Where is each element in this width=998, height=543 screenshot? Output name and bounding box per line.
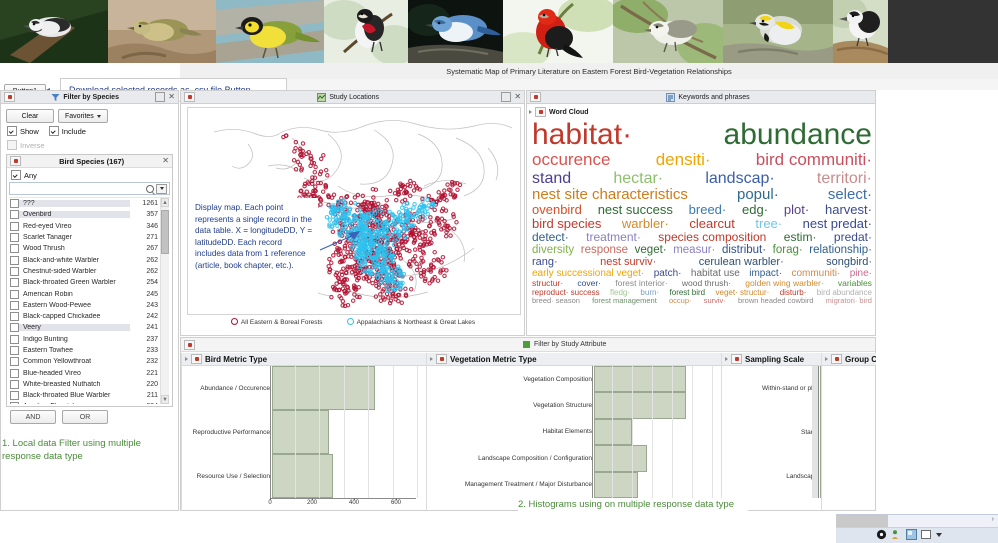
bird-species-header[interactable]: Bird Species (167) ✕ [7, 155, 172, 168]
map-point[interactable] [427, 194, 430, 197]
group-menu-icon[interactable] [10, 156, 21, 166]
word-cloud-term[interactable]: bird communiti· [756, 151, 872, 169]
map-point[interactable] [412, 206, 415, 209]
map-point[interactable] [294, 140, 297, 143]
map-point[interactable] [305, 152, 308, 155]
word-cloud-term[interactable]: plot· [784, 203, 809, 217]
histogram-bar-row[interactable]: Stand [722, 410, 821, 454]
map-point[interactable] [404, 240, 407, 243]
map-point[interactable] [341, 280, 344, 283]
map-point[interactable] [344, 256, 347, 259]
map-point[interactable] [426, 198, 429, 201]
map-point[interactable] [340, 270, 343, 273]
histogram-bar[interactable] [594, 445, 647, 471]
word-cloud-term[interactable]: abundance [724, 119, 872, 151]
map-point[interactable] [400, 301, 403, 304]
word-cloud-term[interactable]: breed· [689, 203, 727, 217]
word-cloud-section-header[interactable]: Word Cloud [529, 106, 589, 118]
word-cloud-term[interactable]: landscap· [705, 170, 774, 187]
map-point[interactable] [440, 209, 443, 212]
map-point[interactable] [424, 230, 427, 233]
map-point[interactable] [354, 202, 357, 205]
map-point[interactable] [332, 254, 335, 257]
map-point[interactable] [320, 157, 323, 160]
histogram-bar-row[interactable]: Landscape Composition / Configuration [427, 445, 721, 471]
species-checkbox[interactable] [10, 301, 19, 310]
species-list-item[interactable]: Chestnut-sided Warbler262 [9, 266, 170, 277]
word-cloud-term[interactable]: bird species [532, 217, 601, 231]
map-point[interactable] [349, 201, 352, 204]
map-point[interactable] [346, 285, 349, 288]
map-point[interactable] [443, 274, 446, 277]
word-cloud-term[interactable]: rang· [532, 257, 558, 269]
map-point[interactable] [313, 171, 316, 174]
species-list-item[interactable]: Indigo Bunting237 [9, 334, 170, 345]
word-cloud-term[interactable]: warbler· [622, 217, 669, 231]
map-point[interactable] [330, 261, 333, 264]
word-cloud[interactable]: habitat·abundanceoccurencedensiti·bird c… [529, 119, 875, 335]
map-point[interactable] [412, 182, 415, 185]
map-point[interactable] [369, 215, 372, 218]
map-point[interactable] [372, 196, 375, 199]
maximize-icon[interactable] [155, 92, 165, 102]
map-panel-titlebar[interactable]: Study Locations ✕ [181, 91, 524, 104]
map-point[interactable] [358, 295, 361, 298]
map-point[interactable] [456, 182, 459, 185]
histogram-bar[interactable] [272, 410, 329, 454]
histogram-bar-row[interactable]: Reproductive Performance [182, 410, 426, 454]
map-point[interactable] [456, 188, 459, 191]
map-point[interactable] [314, 185, 317, 188]
map-point[interactable] [385, 225, 388, 228]
map-point[interactable] [412, 189, 415, 192]
word-cloud-term[interactable]: nest surviv· [600, 257, 656, 269]
word-cloud-term[interactable]: select· [828, 187, 872, 203]
word-cloud-term[interactable]: surviv· [704, 297, 726, 305]
map-point[interactable] [395, 198, 398, 201]
map-point[interactable] [336, 224, 339, 227]
species-list-item[interactable]: Black-throated Blue Warbler211 [9, 390, 170, 401]
map-point[interactable] [322, 190, 325, 193]
word-cloud-term[interactable]: detect· [532, 231, 569, 244]
word-cloud-term[interactable]: habitat· [532, 119, 632, 151]
blank-window-icon[interactable] [921, 529, 932, 540]
word-cloud-term[interactable]: diversity [532, 244, 574, 256]
map-point[interactable] [301, 142, 304, 145]
species-list-item[interactable]: Ovenbird357 [9, 209, 170, 220]
histogram-bar-row[interactable]: Within-stand or plot [722, 366, 821, 410]
map-point[interactable] [319, 170, 322, 173]
clear-button[interactable]: Clear [6, 109, 54, 123]
histogram-plot[interactable]: Within-stand or plotStandLandscape [722, 366, 821, 511]
map-point[interactable] [437, 191, 440, 194]
map-point[interactable] [354, 272, 357, 275]
map-point[interactable] [296, 160, 299, 163]
map-point[interactable] [357, 286, 360, 289]
histogram-title-bar[interactable]: Bird Metric Type [182, 353, 426, 366]
species-checkbox[interactable] [10, 267, 19, 276]
map-point[interactable] [446, 183, 449, 186]
filter-panel-titlebar[interactable]: Filter by Species ✕ [1, 91, 178, 104]
panel-menu-icon[interactable] [4, 92, 15, 102]
map-maximize-icon[interactable] [501, 92, 511, 102]
species-list-item[interactable]: Black-capped Chickadee242 [9, 311, 170, 322]
species-checkbox[interactable] [10, 335, 19, 344]
word-cloud-term[interactable]: estim· [784, 231, 817, 244]
map-point[interactable] [406, 183, 409, 186]
word-cloud-term[interactable]: predat· [834, 231, 872, 244]
map-point[interactable] [405, 248, 408, 251]
word-cloud-term[interactable]: forag· [773, 244, 803, 256]
disclosure-icon[interactable] [725, 357, 728, 361]
map-point[interactable] [338, 295, 341, 298]
species-list-item[interactable]: Scarlet Tanager271 [9, 232, 170, 243]
map-point[interactable] [311, 182, 314, 185]
legend-item-all-eastern[interactable]: All Eastern & Boreal Forests [231, 318, 323, 326]
word-cloud-term[interactable]: tree· [755, 217, 782, 231]
map-point[interactable] [385, 199, 388, 202]
scroll-up-arrow[interactable]: ▲ [161, 198, 169, 207]
map-point[interactable] [443, 189, 446, 192]
map-point[interactable] [360, 211, 363, 214]
map-point[interactable] [314, 165, 317, 168]
map-point[interactable] [367, 280, 370, 283]
species-checkbox[interactable] [10, 278, 19, 287]
species-checkbox[interactable] [10, 290, 19, 299]
species-list-scroll-thumb[interactable] [161, 210, 169, 254]
map-point[interactable] [445, 235, 448, 238]
map-point[interactable] [432, 259, 435, 262]
map-point[interactable] [449, 193, 452, 196]
word-cloud-term[interactable]: species composition [658, 231, 766, 244]
map-point[interactable] [332, 193, 335, 196]
map-point[interactable] [294, 168, 297, 171]
map-point[interactable] [425, 243, 428, 246]
word-cloud-term[interactable]: veget· [635, 244, 667, 256]
species-list-item[interactable]: Veery241 [9, 322, 170, 333]
map-point[interactable] [294, 147, 297, 150]
or-button[interactable]: OR [62, 410, 108, 424]
map-point[interactable] [345, 195, 348, 198]
word-cloud-term[interactable]: forest management [592, 297, 657, 305]
word-cloud-term[interactable]: nest success [598, 203, 673, 217]
map-point[interactable] [436, 279, 439, 282]
histogram-bar[interactable] [594, 419, 632, 445]
map-point[interactable] [393, 239, 396, 242]
show-checkbox[interactable]: Show [7, 126, 39, 136]
map-point[interactable] [394, 251, 397, 254]
map-point[interactable] [428, 224, 431, 227]
any-checkbox[interactable]: Any [11, 170, 37, 180]
map-point[interactable] [403, 198, 406, 201]
map-point[interactable] [328, 270, 331, 273]
map-point[interactable] [429, 237, 432, 240]
map-point[interactable] [397, 293, 400, 296]
map-point[interactable] [358, 207, 361, 210]
map-point[interactable] [350, 222, 353, 225]
map-point[interactable] [337, 288, 340, 291]
map-point[interactable] [426, 212, 429, 215]
species-checkbox[interactable] [10, 244, 19, 253]
map-point[interactable] [418, 265, 421, 268]
map-point[interactable] [330, 295, 333, 298]
species-list-item[interactable]: American Robin245 [9, 288, 170, 299]
disclosure-icon[interactable] [185, 357, 188, 361]
map-point[interactable] [353, 293, 356, 296]
histogram-menu-icon[interactable] [191, 354, 202, 364]
map-point[interactable] [341, 287, 344, 290]
species-checkbox[interactable] [10, 210, 19, 219]
scroll-right-icon[interactable]: › [992, 516, 994, 523]
map-point[interactable] [377, 202, 380, 205]
histogram-bar-row[interactable]: Management Treatment / Major Disturbance [427, 472, 721, 498]
species-list-item[interactable]: Eastern Wood-Pewee243 [9, 300, 170, 311]
map-point[interactable] [401, 244, 404, 247]
word-cloud-term[interactable]: measur· [673, 244, 715, 256]
histogram-menu-icon[interactable] [436, 354, 447, 364]
species-checkbox[interactable] [10, 346, 19, 355]
map-point[interactable] [292, 159, 295, 162]
map-point[interactable] [376, 263, 379, 266]
map-point[interactable] [328, 257, 331, 260]
record-icon[interactable] [876, 529, 887, 540]
map-point[interactable] [413, 203, 416, 206]
map-point[interactable] [426, 207, 429, 210]
map-point[interactable] [392, 259, 395, 262]
map-point[interactable] [404, 287, 407, 290]
species-checkbox[interactable] [10, 199, 19, 208]
word-cloud-term[interactable]: treatment· [586, 231, 641, 244]
histogram-bar-row[interactable]: Landscape [722, 454, 821, 498]
species-list[interactable]: ▲ ▼ ???1261Ovenbird357Red-eyed Vireo346S… [9, 197, 170, 404]
map-point[interactable] [374, 188, 377, 191]
map-point[interactable] [377, 286, 380, 289]
map-point[interactable] [433, 275, 436, 278]
map-point[interactable] [429, 216, 432, 219]
histogram-bar[interactable] [272, 454, 333, 498]
map-point[interactable] [414, 255, 417, 258]
map-point[interactable] [417, 209, 420, 212]
species-checkbox[interactable] [10, 391, 19, 400]
map-point[interactable] [415, 268, 418, 271]
word-cloud-term[interactable]: response [581, 244, 628, 256]
map-point[interactable] [325, 216, 328, 219]
map-point[interactable] [389, 189, 392, 192]
species-checkbox[interactable] [10, 222, 19, 231]
map-point[interactable] [381, 234, 384, 237]
word-cloud-term[interactable]: popul· [737, 187, 779, 203]
species-list-item[interactable]: Common Yellowthroat232 [9, 356, 170, 367]
word-cloud-term[interactable]: distribut· [722, 244, 766, 256]
map-point[interactable] [441, 256, 444, 259]
species-list-item[interactable]: White-breasted Nuthatch220 [9, 379, 170, 390]
species-list-item[interactable]: Black-and-white Warbler262 [9, 254, 170, 265]
keywords-panel-menu-icon[interactable] [530, 92, 541, 102]
map-point[interactable] [371, 281, 374, 284]
word-cloud-term[interactable]: ovenbird [532, 203, 582, 217]
word-cloud-menu-icon[interactable] [535, 107, 546, 117]
histogram-bar-row[interactable]: Habitat Elements [427, 419, 721, 445]
word-cloud-term[interactable]: brown headed cowbird [738, 297, 813, 305]
histogram-bar[interactable] [594, 366, 686, 392]
map-point[interactable] [372, 233, 375, 236]
map-point[interactable] [408, 260, 411, 263]
map-point[interactable] [352, 299, 355, 302]
map-point[interactable] [413, 260, 416, 263]
histogram-bar-row[interactable]: Abundance / Occurence [182, 366, 426, 410]
map-point[interactable] [410, 288, 413, 291]
word-cloud-term[interactable]: densiti· [656, 151, 711, 169]
word-cloud-term[interactable]: cerulean warbler· [699, 257, 784, 269]
map-point[interactable] [345, 271, 348, 274]
map-point[interactable] [397, 243, 400, 246]
map-close-icon[interactable]: ✕ [514, 93, 521, 101]
legend-item-appalachians[interactable]: Appalachians & Northeast & Great Lakes [347, 318, 476, 326]
map-point[interactable] [396, 247, 399, 250]
map-point[interactable] [440, 261, 443, 264]
map-point[interactable] [428, 282, 431, 285]
species-list-item[interactable]: Acadian Flycatcher204 [9, 401, 170, 404]
map-point[interactable] [284, 134, 287, 137]
map-point[interactable] [311, 176, 314, 179]
map-point[interactable] [303, 182, 306, 185]
species-checkbox[interactable] [10, 380, 19, 389]
map-point[interactable] [445, 269, 448, 272]
favorites-button[interactable]: Favorites [58, 109, 108, 123]
map-point[interactable] [409, 179, 412, 182]
histogram-menu-icon[interactable] [731, 354, 742, 364]
histogram-plot[interactable]: Vegetation CompositionVegetation Structu… [427, 366, 721, 511]
map-point[interactable] [385, 266, 388, 269]
species-search-input[interactable] [9, 182, 170, 195]
and-button[interactable]: AND [10, 410, 56, 424]
map-point[interactable] [325, 169, 328, 172]
map-point[interactable] [397, 300, 400, 303]
word-cloud-term[interactable]: relationship· [809, 244, 872, 256]
word-cloud-term[interactable]: edg· [742, 203, 768, 217]
histogram-bar[interactable] [594, 472, 638, 498]
map-point[interactable] [433, 251, 436, 254]
histogram-bar-row[interactable]: Vegetation Composition [427, 366, 721, 392]
map-point[interactable] [398, 253, 401, 256]
map-point[interactable] [418, 236, 421, 239]
filter-by-study-attribute-bar[interactable]: Filter by Study Attribute [181, 338, 875, 352]
map-point[interactable] [442, 227, 445, 230]
map-point[interactable] [406, 202, 409, 205]
word-cloud-term[interactable]: nest predat· [803, 217, 872, 231]
map-point[interactable] [299, 190, 302, 193]
word-cloud-term[interactable]: harvest· [825, 203, 872, 217]
histogram-bar-row[interactable]: Vegetation Structure [427, 392, 721, 418]
species-checkbox[interactable] [10, 256, 19, 265]
group-close-icon[interactable]: ✕ [162, 157, 169, 165]
map-point[interactable] [376, 272, 379, 275]
species-list-item[interactable]: Red-eyed Vireo346 [9, 221, 170, 232]
species-checkbox[interactable] [10, 369, 19, 378]
map-point[interactable] [346, 304, 349, 307]
map-panel-menu-icon[interactable] [184, 92, 195, 102]
species-list-item[interactable]: Black-throated Green Warbler254 [9, 277, 170, 288]
map-point[interactable] [389, 289, 392, 292]
map-point[interactable] [341, 304, 344, 307]
word-cloud-term[interactable]: hectar· [613, 170, 663, 187]
disclosure-icon[interactable] [430, 357, 433, 361]
word-cloud-term[interactable]: stand [532, 170, 571, 187]
species-checkbox[interactable] [10, 402, 19, 404]
histogram-bar[interactable] [594, 392, 686, 418]
map-point[interactable] [401, 223, 404, 226]
disclosure-icon[interactable] [529, 110, 532, 114]
species-checkbox[interactable] [10, 233, 19, 242]
map-point[interactable] [401, 206, 404, 209]
map-point[interactable] [433, 208, 436, 211]
histogram-bar[interactable] [272, 366, 375, 410]
map-point[interactable] [388, 210, 391, 213]
keywords-panel-titlebar[interactable]: Keywords and phrases [527, 91, 875, 104]
word-cloud-term[interactable]: territori· [817, 170, 872, 187]
map-point[interactable] [410, 277, 413, 280]
inverse-checkbox[interactable]: Inverse [7, 140, 45, 150]
histogram-panel-menu-icon[interactable] [184, 340, 195, 350]
word-cloud-term[interactable]: nest site characteristics [532, 187, 688, 203]
map-point[interactable] [322, 154, 325, 157]
window-icon[interactable] [906, 529, 917, 540]
map-point[interactable] [409, 194, 412, 197]
histogram-title-bar[interactable]: Vegetation Metric Type [427, 353, 721, 366]
species-list-item[interactable]: ???1261 [9, 198, 170, 209]
scroll-down-arrow[interactable]: ▼ [161, 395, 169, 404]
map-point[interactable] [414, 248, 417, 251]
histogram-menu-icon[interactable] [831, 354, 842, 364]
histogram-title-bar[interactable]: Sampling Scale [722, 353, 821, 366]
map-point[interactable] [379, 293, 382, 296]
map-point[interactable] [387, 270, 390, 273]
word-cloud-term[interactable]: songbird· [826, 257, 872, 269]
map-point[interactable] [309, 157, 312, 160]
species-list-item[interactable]: Eastern Towhee233 [9, 345, 170, 356]
histogram-bar-row[interactable]: Resource Use / Selection [182, 454, 426, 498]
map-point[interactable] [455, 221, 458, 224]
species-checkbox[interactable] [10, 323, 19, 332]
close-icon[interactable]: ✕ [168, 93, 175, 101]
histogram-plot[interactable]: Abundance / OccurenceReproductive Perfor… [182, 366, 426, 511]
map-point[interactable] [326, 174, 329, 177]
species-list-item[interactable]: Blue-headed Vireo221 [9, 367, 170, 378]
map-point[interactable] [388, 301, 391, 304]
include-checkbox[interactable]: Include [49, 126, 86, 136]
search-dropdown-icon[interactable] [156, 184, 167, 194]
map-point[interactable] [402, 230, 405, 233]
map-point[interactable] [400, 240, 403, 243]
species-list-item[interactable]: Wood Thrush267 [9, 243, 170, 254]
word-cloud-term[interactable]: occurence [532, 151, 610, 169]
word-cloud-term[interactable]: clearcut [689, 217, 735, 231]
disclosure-icon[interactable] [825, 357, 828, 361]
status-chevron-down-icon[interactable] [936, 533, 942, 537]
word-cloud-term[interactable]: occup· [669, 297, 692, 305]
map-point[interactable] [448, 227, 451, 230]
species-checkbox[interactable] [10, 357, 19, 366]
species-checkbox[interactable] [10, 312, 19, 321]
word-cloud-term[interactable]: migratori· bird [826, 297, 872, 305]
word-cloud-term[interactable]: breed· season [532, 297, 580, 305]
map-point[interactable] [449, 234, 452, 237]
map-point[interactable] [356, 279, 359, 282]
map-point[interactable] [444, 209, 447, 212]
map-point[interactable] [452, 227, 455, 230]
map-point[interactable] [317, 181, 320, 184]
people-icon[interactable] [891, 529, 902, 540]
